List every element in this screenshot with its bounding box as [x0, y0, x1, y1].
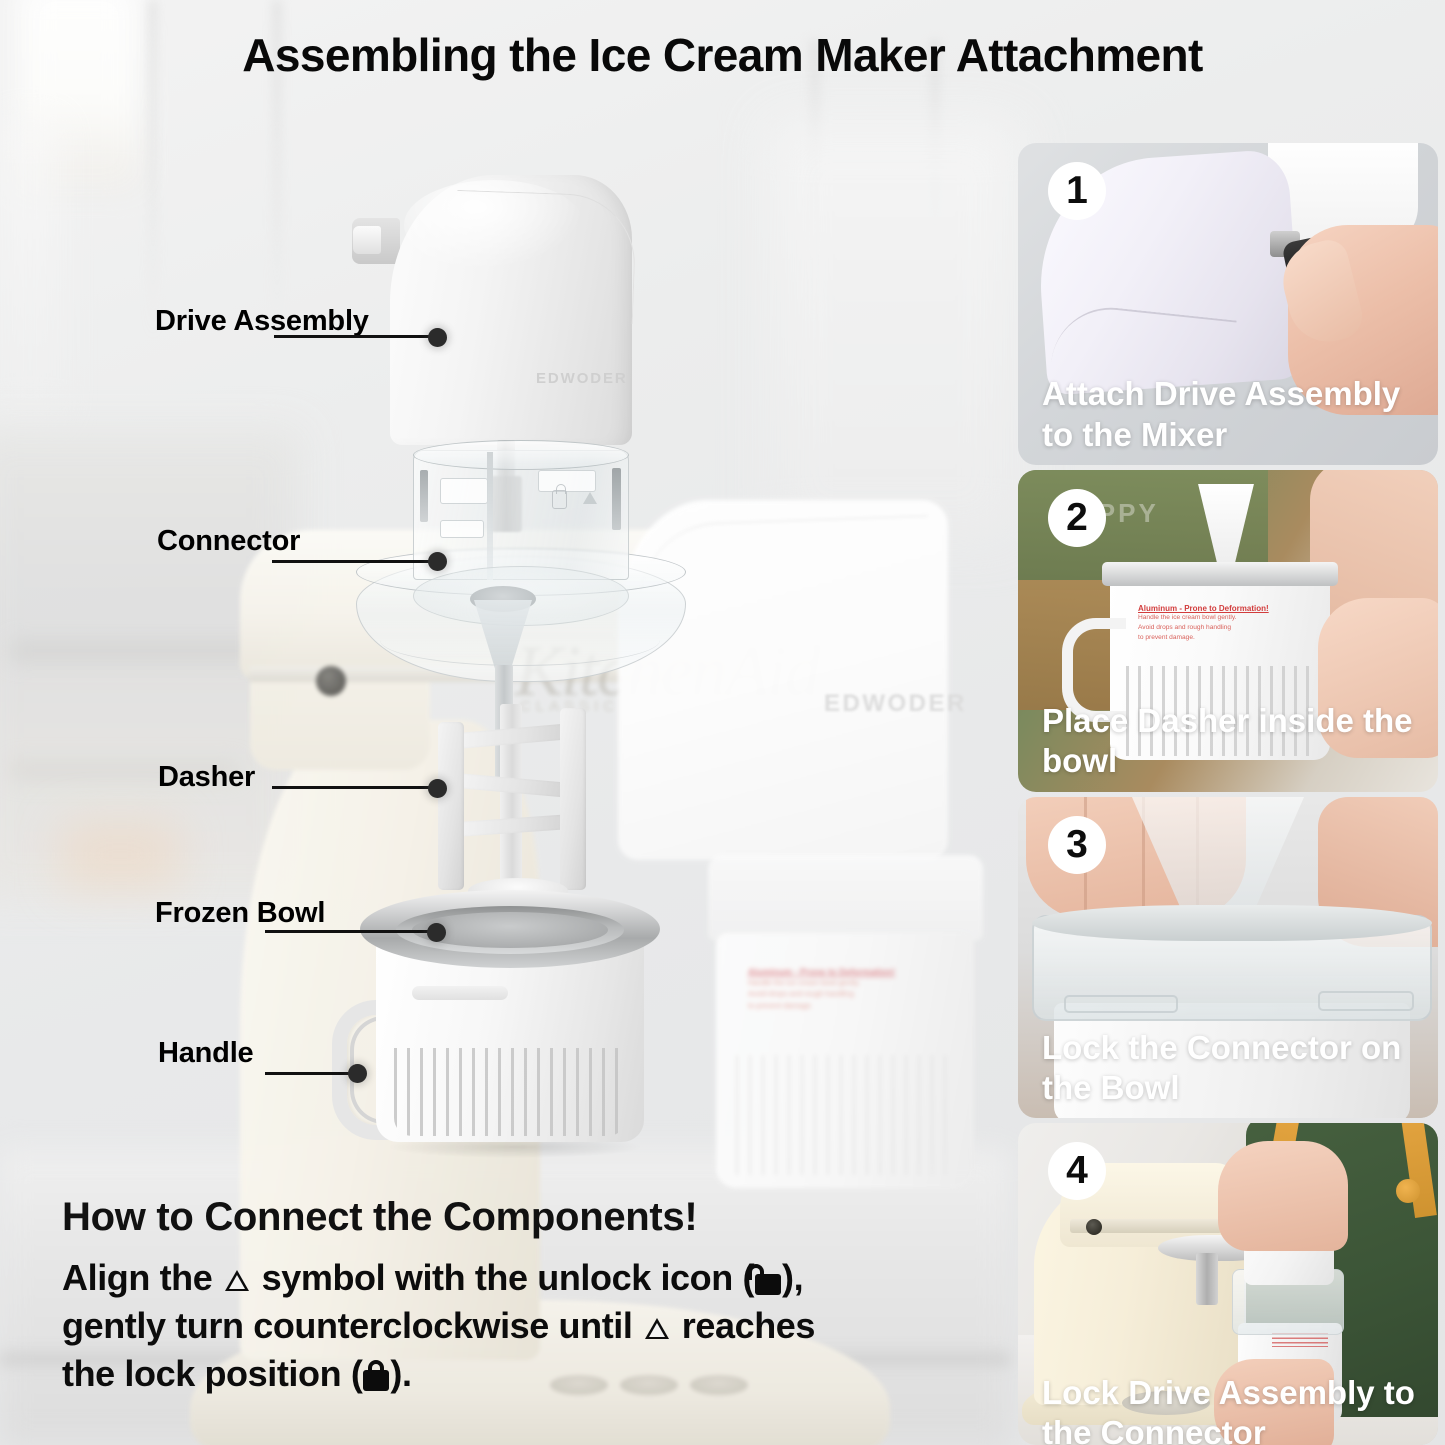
- step-panel-4[interactable]: EDWODER 4 Lock Drive Assembly to the Con…: [1018, 1123, 1438, 1445]
- page-title: Assembling the Ice Cream Maker Attachmen…: [0, 28, 1445, 82]
- how-to-line3-part-b: ).: [390, 1353, 411, 1394]
- callout-dot-handle: [348, 1064, 367, 1083]
- callout-line-dasher: [272, 786, 434, 789]
- connector-slot-left: [420, 470, 428, 522]
- callout-label-dasher: Dasher: [158, 761, 255, 794]
- lock-icon: [363, 1361, 389, 1391]
- drive-brand-text: EDWODER: [536, 370, 628, 387]
- callout-label-handle: Handle: [158, 1037, 254, 1070]
- dasher: [412, 700, 612, 910]
- drive-gearbox-pin: [353, 226, 381, 254]
- callout-line-frozen-bowl: [265, 930, 433, 933]
- step3-connector-tab-left: [1064, 995, 1178, 1013]
- step-badge-2: 2: [1048, 489, 1106, 547]
- connector-collar-top: [413, 440, 629, 470]
- step3-connector-rim: [1032, 905, 1432, 941]
- step-panels: 1 Attach Drive Assembly to the Mixer APP…: [1018, 143, 1438, 1445]
- step-panel-3[interactable]: 3 Lock the Connector on the Bowl: [1018, 797, 1438, 1119]
- step-caption-4: Lock Drive Assembly to the Connector: [1042, 1373, 1422, 1445]
- callout-dot-dasher: [428, 779, 447, 798]
- step-panel-1[interactable]: 1 Attach Drive Assembly to the Mixer: [1018, 143, 1438, 465]
- triangle-icon: [225, 1270, 249, 1291]
- step2-warning-heading: Aluminum - Prone to Deformation!: [1138, 604, 1250, 613]
- step-caption-2: Place Dasher inside the bowl: [1042, 701, 1422, 782]
- connector-slot-right: [612, 468, 621, 530]
- bowl-ribs: [394, 1048, 626, 1136]
- how-to-line2-part-b: reaches: [682, 1305, 815, 1346]
- callout-label-frozen-bowl: Frozen Bowl: [155, 897, 325, 930]
- how-to-line1-part-a: Align the: [62, 1257, 212, 1298]
- connector-vane: [487, 452, 493, 580]
- step-badge-3: 3: [1048, 816, 1106, 874]
- callout-dasher: Dasher: [158, 752, 388, 804]
- step2-warning-line-1: Handle the ice cream bowl gently.: [1138, 613, 1250, 623]
- how-to-line-3: the lock position ().: [62, 1350, 942, 1398]
- step-caption-3: Lock the Connector on the Bowl: [1042, 1028, 1422, 1109]
- bowl-tab: [412, 986, 508, 1000]
- step-panel-2[interactable]: APPY Aluminum - Prone to Deformation! Ha…: [1018, 470, 1438, 792]
- step3-connector-tab-right: [1318, 991, 1414, 1011]
- step4-bowl-warning-label: [1272, 1333, 1328, 1347]
- connector-notch-left: [440, 478, 488, 504]
- callout-label-drive-assembly: Drive Assembly: [155, 305, 369, 338]
- triangle-icon-2: [645, 1318, 669, 1339]
- how-to-connect-block: How to Connect the Components! Align the…: [62, 1196, 942, 1398]
- dasher-blade-right: [560, 708, 586, 890]
- callout-dot-connector: [428, 552, 447, 571]
- infographic-page: KitchenAid CLASSIC EDWODER Aluminum - Pr…: [0, 0, 1445, 1445]
- connector-triangle-marking-icon: [583, 492, 597, 504]
- how-to-heading: How to Connect the Components!: [62, 1196, 942, 1238]
- how-to-line-1: Align the symbol with the unlock icon ()…: [62, 1254, 942, 1302]
- callout-dot-frozen-bowl: [427, 923, 446, 942]
- connector-lock-marking-icon: [552, 490, 567, 509]
- step-caption-1: Attach Drive Assembly to the Mixer: [1042, 374, 1422, 455]
- callout-dot-drive-assembly: [428, 328, 447, 347]
- step2-bowl-rim: [1102, 562, 1338, 586]
- connector-notch-right: [538, 470, 596, 492]
- how-to-line3-part-a: the lock position (: [62, 1353, 362, 1394]
- step-badge-4: 4: [1048, 1142, 1106, 1200]
- callout-drive-assembly: Drive Assembly: [155, 296, 455, 348]
- unlock-body: [755, 1274, 781, 1295]
- step4-upper-hand: [1218, 1141, 1348, 1251]
- how-to-line2-part-a: gently turn counterclockwise until: [62, 1305, 633, 1346]
- drive-seam-line: [453, 190, 637, 324]
- step2-warning-line-3: to prevent damage.: [1138, 633, 1250, 643]
- connector-notch-lower: [440, 520, 484, 538]
- unlock-icon: [755, 1265, 781, 1295]
- how-to-line1-part-c: ),: [782, 1257, 803, 1298]
- how-to-line-2: gently turn counterclockwise until reach…: [62, 1302, 942, 1350]
- step2-warning-label: Aluminum - Prone to Deformation! Handle …: [1138, 604, 1250, 644]
- lock-body: [363, 1370, 389, 1391]
- callout-label-connector: Connector: [157, 525, 300, 558]
- dasher-blade-left: [438, 722, 464, 890]
- callout-line-drive-assembly: [274, 335, 434, 338]
- step2-warning-line-2: Avoid drops and rough handling: [1138, 623, 1250, 633]
- callout-line-connector: [272, 560, 434, 563]
- step-badge-1: 1: [1048, 162, 1106, 220]
- how-to-line1-part-b: symbol with the unlock icon (: [262, 1257, 754, 1298]
- step4-mixer-shaft: [1196, 1253, 1218, 1305]
